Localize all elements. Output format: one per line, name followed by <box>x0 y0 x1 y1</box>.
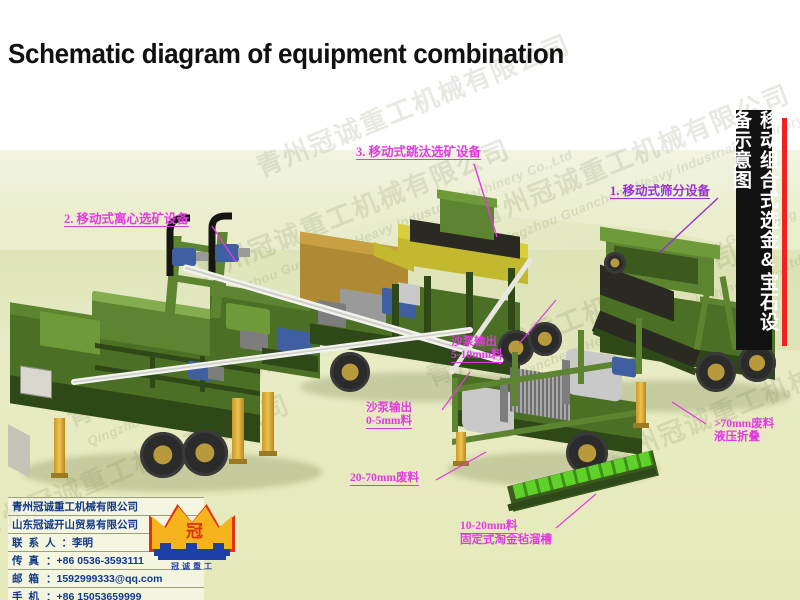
label-screening-equipment: 1. 移动式筛分设备 <box>610 184 710 199</box>
annotation-sand-pump-5-10: 沙泵输出 5-10mm料 <box>451 336 503 363</box>
contact-row-email[interactable]: 邮箱 ：1592999333@qq.com <box>8 570 204 588</box>
banner-accent-bar <box>782 118 787 346</box>
annotation-waste-20-70: 20-70mm废料 <box>350 472 419 486</box>
page-title: Schematic diagram of equipment combinati… <box>8 38 564 70</box>
logo-base-lower <box>158 556 226 560</box>
annotation-sand-pump-0-5: 沙泵输出 0-5mm料 <box>366 402 412 429</box>
logo-caption: 冠诚重工 <box>156 561 230 572</box>
diagram-canvas: 青州冠诚重工机械有限公司 Qingzhou Guancheng Heavy In… <box>0 0 800 600</box>
label-centrifugal-equipment: 2. 移动式离心选矿设备 <box>64 212 189 227</box>
contact-row-mobile: 手机 ：+86 15053659999 <box>8 588 204 600</box>
annotation-feed-10-20: 10-20mm料 固定式淘金毡溜槽 <box>460 520 552 547</box>
label-jig-equipment: 3. 移动式跳汰选矿设备 <box>356 145 481 160</box>
logo-mark: 冠 <box>186 517 203 542</box>
company-logo: 冠 冠诚重工 <box>152 505 232 571</box>
vertical-banner: 移动组合式选金&宝石设备示意图 <box>736 110 772 350</box>
annotation-waste-over-70: >70mm废料 液压折叠 <box>714 418 774 444</box>
logo-base <box>154 549 230 556</box>
